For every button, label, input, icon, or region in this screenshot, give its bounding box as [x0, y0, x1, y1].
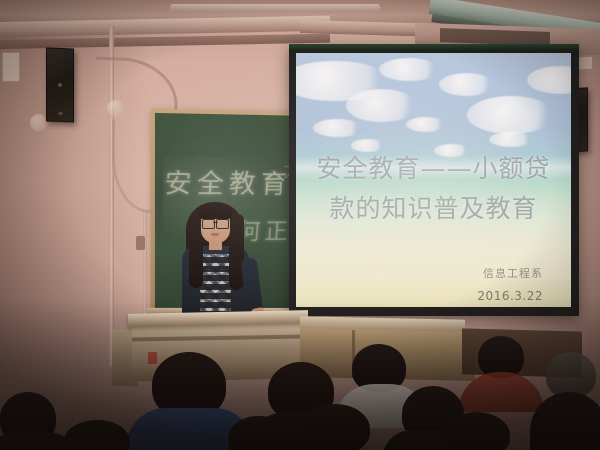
classroom-photograph: 安全教育 不 如何正确 安全教育——小额贷 款的知识普及教育 信息工程系: [0, 0, 600, 450]
photo-vignette: [0, 0, 600, 450]
